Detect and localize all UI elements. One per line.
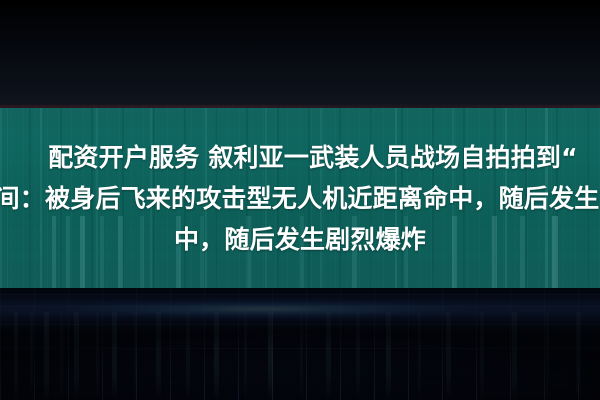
- headline-line-3: 中，随后发生剧烈爆炸: [174, 219, 426, 260]
- banner-image: 配资开户服务 叙利亚一武装人员战场自拍拍到“ 间：被身后飞来的攻击型无人机近距离…: [0, 0, 600, 400]
- headline-line-2: 间：被身后飞来的攻击型无人机近距离命中，随后发生: [0, 178, 599, 219]
- headline-text-block: 配资开户服务 叙利亚一武装人员战场自拍拍到“ 间：被身后飞来的攻击型无人机近距离…: [0, 108, 600, 288]
- top-dark-band: [0, 0, 600, 108]
- headline-line-1: 配资开户服务 叙利亚一武装人员战场自拍拍到“: [48, 137, 578, 178]
- bottom-chart-band: [0, 288, 600, 400]
- bottom-vignette: [0, 288, 600, 400]
